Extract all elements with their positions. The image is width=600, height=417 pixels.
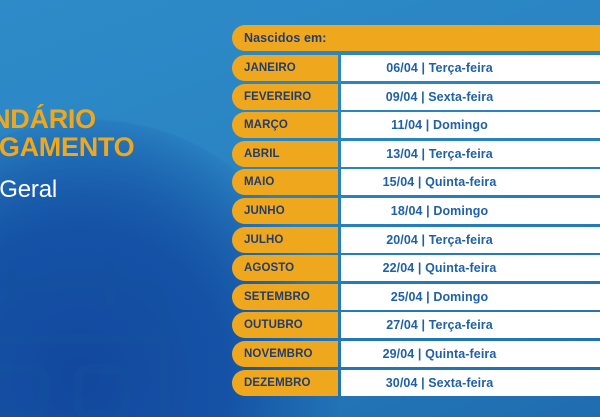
month-label: MAIO <box>244 176 274 188</box>
table-row: SETEMBRO 25/04 | Domingo <box>232 284 600 310</box>
date-label: 09/04 | Sexta-feira <box>386 90 494 104</box>
month-pill: OUTUBRO <box>232 312 338 338</box>
table-row: AGOSTO 22/04 | Quinta-feira <box>232 255 600 281</box>
date-cell: 30/04 | Sexta-feira <box>341 370 600 396</box>
date-cell: 09/04 | Sexta-feira <box>341 84 600 110</box>
month-label: JANEIRO <box>244 62 296 74</box>
date-cell: 27/04 | Terça-feira <box>341 312 600 338</box>
date-label: 27/04 | Terça-feira <box>386 318 493 332</box>
table-row: FEVEREIRO 09/04 | Sexta-feira <box>232 84 600 110</box>
date-cell: 25/04 | Domingo <box>341 284 600 310</box>
month-label: DEZEMBRO <box>244 377 311 389</box>
date-label: 29/04 | Quinta-feira <box>383 347 497 361</box>
month-pill: SETEMBRO <box>232 284 338 310</box>
date-label: 15/04 | Quinta-feira <box>383 175 497 189</box>
kicker-text: ela 1 <box>0 86 238 103</box>
page-title-line-2: PAGAMENTO <box>0 134 238 162</box>
table-row: DEZEMBRO 30/04 | Sexta-feira <box>232 370 600 396</box>
month-pill: FEVEREIRO <box>232 84 338 110</box>
table-header-row: Nascidos em: <box>232 25 600 51</box>
table-row: OUTUBRO 27/04 | Terça-feira <box>232 312 600 338</box>
month-pill: NOVEMBRO <box>232 341 338 367</box>
date-label: 30/04 | Sexta-feira <box>386 376 494 390</box>
table-row: MAIO 15/04 | Quinta-feira <box>232 169 600 195</box>
date-cell: 06/04 | Terça-feira <box>341 55 600 81</box>
month-label: MARÇO <box>244 119 288 131</box>
month-pill: ABRIL <box>232 141 338 167</box>
month-pill: DEZEMBRO <box>232 370 338 396</box>
month-pill: JUNHO <box>232 198 338 224</box>
table-row: MARÇO 11/04 | Domingo <box>232 112 600 138</box>
table-header-label: Nascidos em: <box>244 31 326 45</box>
month-pill: AGOSTO <box>232 255 338 281</box>
date-label: 06/04 | Terça-feira <box>386 61 493 75</box>
month-label: OUTUBRO <box>244 319 303 331</box>
month-label: NOVEMBRO <box>244 348 313 360</box>
date-cell: 13/04 | Terça-feira <box>341 141 600 167</box>
table-row: JUNHO 18/04 | Domingo <box>232 198 600 224</box>
month-label: FEVEREIRO <box>244 91 311 103</box>
date-label: 22/04 | Quinta-feira <box>383 261 497 275</box>
payment-schedule-table: Nascidos em: JANEIRO 06/04 | Terça-feira… <box>232 25 600 398</box>
month-pill: JANEIRO <box>232 55 338 81</box>
month-label: ABRIL <box>244 148 280 160</box>
table-row: ABRIL 13/04 | Terça-feira <box>232 141 600 167</box>
date-label: 11/04 | Domingo <box>391 118 488 132</box>
audience-subtitle: blico: Geral <box>0 176 238 204</box>
page-title: ALENDÁRIO PAGAMENTO <box>0 106 238 162</box>
month-pill: JULHO <box>232 227 338 253</box>
month-label: JULHO <box>244 234 283 246</box>
table-row: JANEIRO 06/04 | Terça-feira <box>232 55 600 81</box>
title-block: ela 1 ALENDÁRIO PAGAMENTO blico: Geral <box>0 86 238 204</box>
page-title-line-1: ALENDÁRIO <box>0 104 96 134</box>
table-row: JULHO 20/04 | Terça-feira <box>232 227 600 253</box>
date-cell: 20/04 | Terça-feira <box>341 227 600 253</box>
date-cell: 15/04 | Quinta-feira <box>341 169 600 195</box>
table-row: NOVEMBRO 29/04 | Quinta-feira <box>232 341 600 367</box>
date-cell: 29/04 | Quinta-feira <box>341 341 600 367</box>
date-cell: 11/04 | Domingo <box>341 112 600 138</box>
date-label: 20/04 | Terça-feira <box>386 233 493 247</box>
date-label: 13/04 | Terça-feira <box>386 147 493 161</box>
date-label: 18/04 | Domingo <box>391 204 488 218</box>
month-pill: MARÇO <box>232 112 338 138</box>
payment-calendar-poster: ela 1 ALENDÁRIO PAGAMENTO blico: Geral N… <box>0 0 600 417</box>
table-body: JANEIRO 06/04 | Terça-feira FEVEREIRO 09… <box>232 55 600 396</box>
date-cell: 18/04 | Domingo <box>341 198 600 224</box>
month-pill: MAIO <box>232 169 338 195</box>
month-label: JUNHO <box>244 205 285 217</box>
date-label: 25/04 | Domingo <box>391 290 488 304</box>
month-label: SETEMBRO <box>244 291 310 303</box>
date-cell: 22/04 | Quinta-feira <box>341 255 600 281</box>
month-label: AGOSTO <box>244 262 294 274</box>
